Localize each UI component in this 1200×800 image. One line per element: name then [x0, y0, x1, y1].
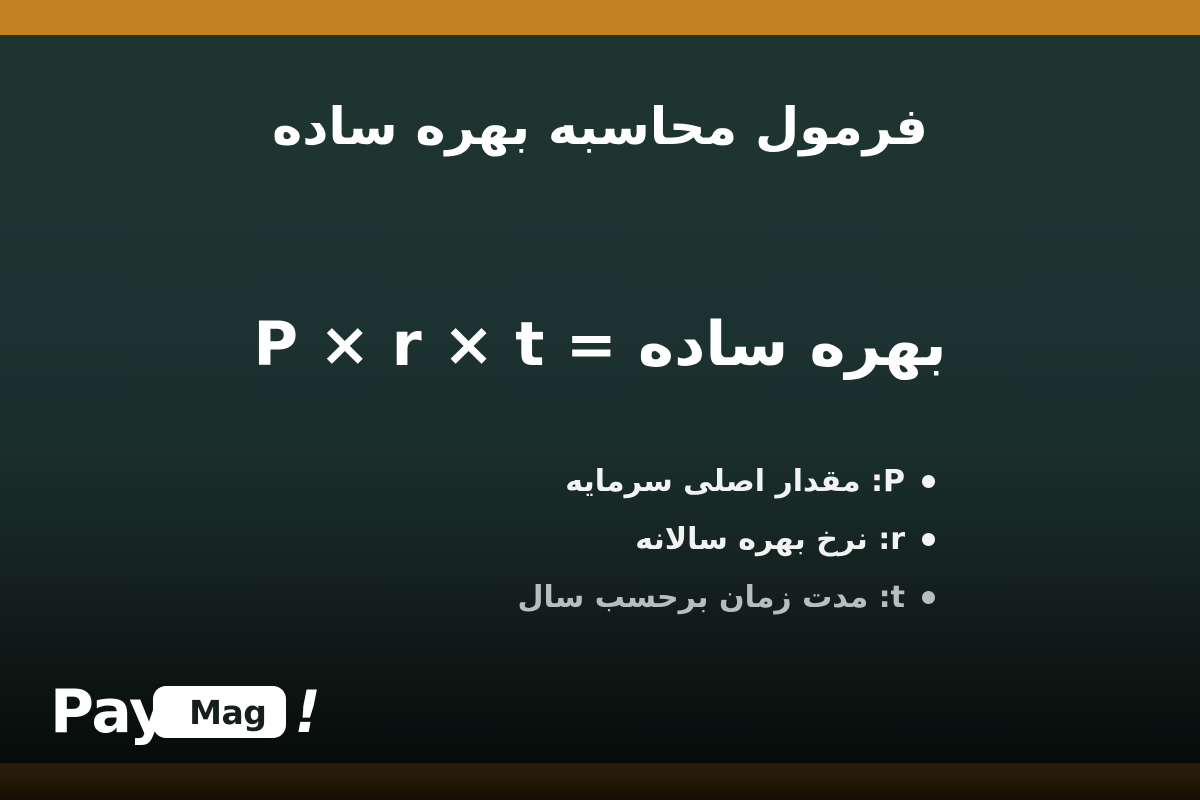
bullet-dot-icon: [922, 591, 935, 604]
logo-exclamation-mark: !: [294, 683, 320, 741]
page-title: فرمول محاسبه بهره ساده: [0, 96, 1200, 160]
legend-description: مدت زمان برحسب سال: [517, 580, 868, 615]
legend-description: مقدار اصلی سرمایه: [565, 464, 860, 499]
paymag-logo: Pay Mag !: [50, 681, 321, 743]
bottom-accent-bar: [0, 763, 1200, 800]
bullet-dot-icon: [922, 533, 935, 546]
legend-symbol: P: [883, 464, 905, 499]
legend-separator: :: [879, 580, 891, 615]
legend-separator: :: [871, 464, 883, 499]
list-item: P: مقدار اصلی سرمایه: [517, 452, 935, 510]
legend-list: P: مقدار اصلی سرمایه r: نرخ بهره سالانه …: [517, 452, 935, 626]
formula-text: بهره ساده = P × r × t: [0, 305, 1200, 384]
logo-badge: Mag: [153, 686, 286, 738]
list-item: t: مدت زمان برحسب سال: [517, 568, 935, 626]
top-accent-bar: [0, 0, 1200, 35]
list-item: r: نرخ بهره سالانه: [517, 510, 935, 568]
legend-separator: :: [878, 522, 890, 557]
bullet-dot-icon: [922, 475, 935, 488]
logo-primary-text: Pay: [50, 682, 167, 742]
legend-symbol: r: [890, 522, 905, 557]
legend-symbol: t: [891, 580, 905, 615]
legend-description: نرخ بهره سالانه: [635, 522, 867, 557]
slide-canvas: فرمول محاسبه بهره ساده بهره ساده = P × r…: [0, 0, 1200, 800]
logo-badge-text: Mag: [189, 696, 266, 729]
